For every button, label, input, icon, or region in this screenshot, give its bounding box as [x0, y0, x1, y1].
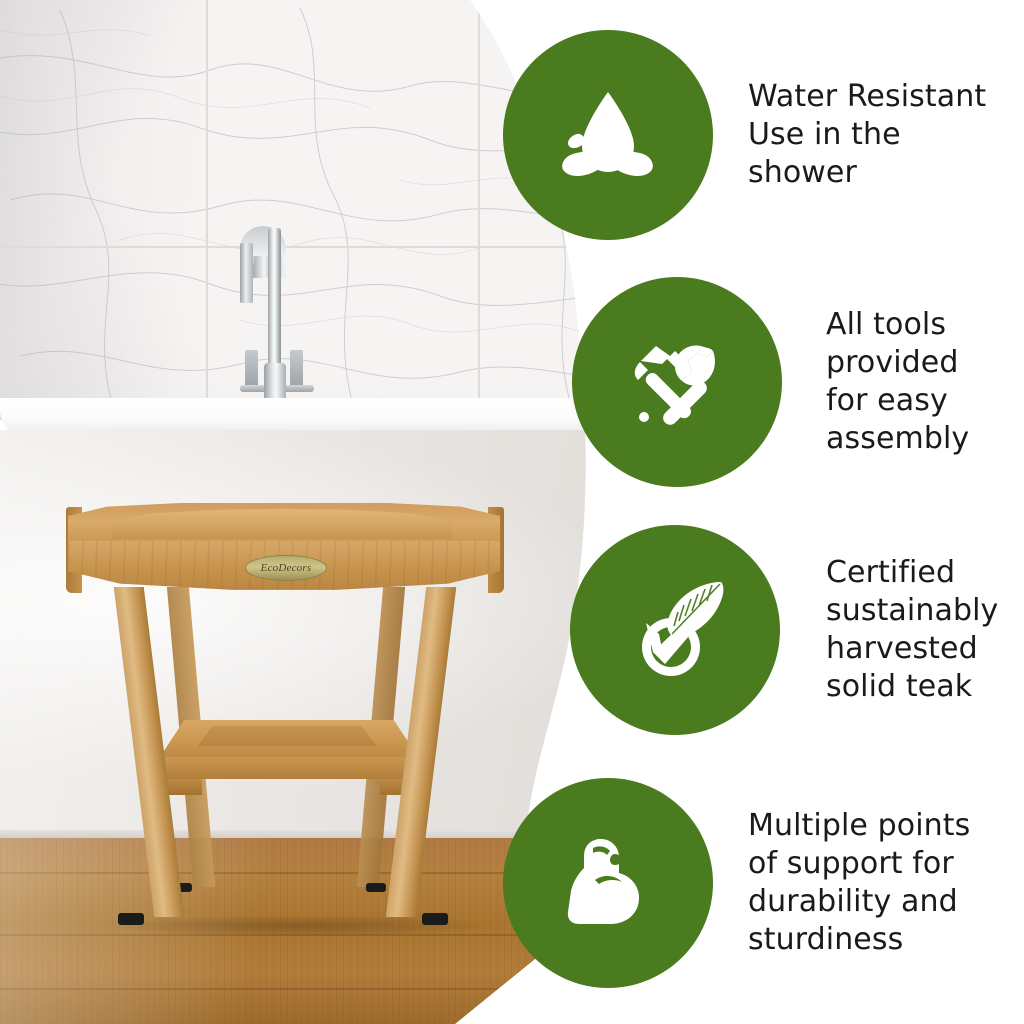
feature-text: All tools provided for easy assembly [826, 306, 969, 458]
leaf-check-icon [613, 568, 737, 692]
tile-grout-line [0, 246, 700, 248]
water-droplet-icon [549, 76, 667, 194]
stool-foot-front-right [422, 913, 448, 925]
faucet-handle-left [245, 350, 258, 390]
brand-plate-label: EcoDecors [261, 562, 312, 574]
stool-foot-front-left [118, 913, 144, 925]
feature-sustainable-teak: Certified sustainably harvested solid te… [570, 525, 998, 735]
feature-badge-circle [570, 525, 780, 735]
feature-text: Certified sustainably harvested solid te… [826, 554, 998, 706]
feature-tools-provided: All tools provided for easy assembly [572, 277, 969, 487]
feature-text: Water Resistant Use in the shower [748, 78, 986, 192]
stool-shelf-inlay [198, 726, 376, 746]
stool-foot-back-right [366, 883, 386, 892]
feature-badge-circle [503, 778, 713, 988]
feature-water-resistant: Water Resistant Use in the shower [503, 30, 986, 240]
stool-seat-inlay [112, 509, 452, 539]
stool-shelf-edge [154, 757, 426, 779]
faucet-handle-right [290, 350, 303, 390]
infographic-canvas: EcoDecors Water Resistant Use in the sho… [0, 0, 1024, 1024]
faucet-handle-arm-right [282, 385, 314, 392]
hammer-wrench-icon [618, 323, 736, 441]
feature-badge-circle [572, 277, 782, 487]
faucet-neck [240, 243, 253, 303]
feature-badge-circle [503, 30, 713, 240]
brand-plate: EcoDecors [245, 555, 327, 581]
flexed-bicep-icon [549, 824, 667, 942]
feature-multiple-support-points: Multiple points of support for durabilit… [503, 778, 970, 988]
feature-text: Multiple points of support for durabilit… [748, 807, 970, 959]
tile-grout-line [478, 0, 480, 420]
teak-shower-stool: EcoDecors [60, 495, 510, 950]
tile-grout-line [206, 0, 208, 420]
